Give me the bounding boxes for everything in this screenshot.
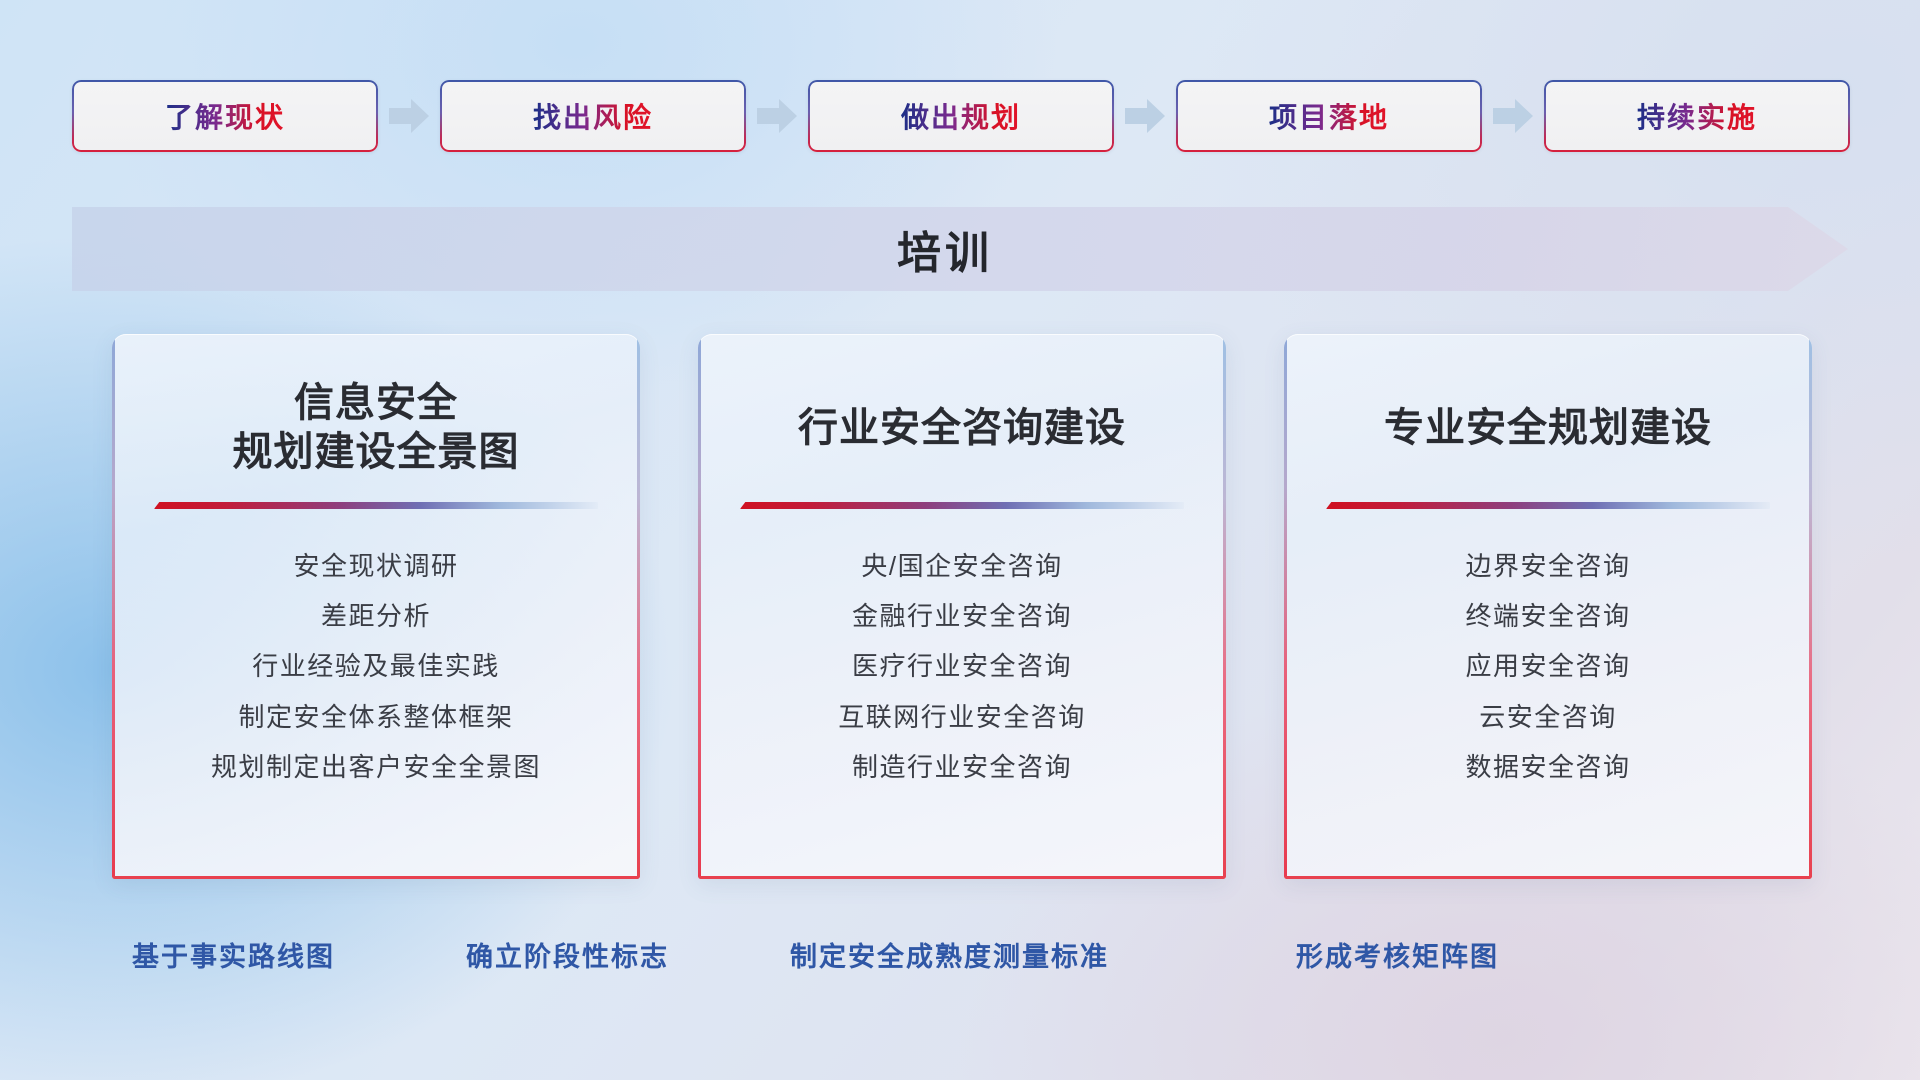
card-inner: 行业安全咨询建设央/国企安全咨询金融行业安全咨询医疗行业安全咨询互联网行业安全咨… xyxy=(698,334,1226,879)
list-item: 互联网行业安全咨询 xyxy=(838,702,1086,733)
card-inner: 信息安全规划建设全景图安全现状调研差距分析行业经验及最佳实践制定安全体系整体框架… xyxy=(112,334,640,879)
card-item-list: 央/国企安全咨询金融行业安全咨询医疗行业安全咨询互联网行业安全咨询制造行业安全咨… xyxy=(732,551,1192,783)
service-card-group: 信息安全规划建设全景图安全现状调研差距分析行业经验及最佳实践制定安全体系整体框架… xyxy=(112,334,1812,879)
list-item: 央/国企安全咨询 xyxy=(861,551,1062,582)
list-item: 制定安全体系整体框架 xyxy=(238,702,513,733)
list-item: 安全现状调研 xyxy=(293,551,458,582)
list-item: 数据安全咨询 xyxy=(1465,752,1630,783)
right-arrow-icon xyxy=(1482,80,1544,152)
footer-label-1: 基于事实路线图 xyxy=(132,935,335,974)
card-inner: 专业安全规划建设边界安全咨询终端安全咨询应用安全咨询云安全咨询数据安全咨询 xyxy=(1284,334,1812,879)
list-item: 行业经验及最佳实践 xyxy=(252,651,500,682)
list-item: 终端安全咨询 xyxy=(1465,601,1630,632)
list-item: 差距分析 xyxy=(321,601,431,632)
card-title: 行业安全咨询建设 xyxy=(732,376,1192,480)
list-item: 医疗行业安全咨询 xyxy=(852,651,1072,682)
step-label: 持续实施 xyxy=(1637,96,1757,136)
footer-label-2: 确立阶段性标志 xyxy=(466,935,669,974)
card-accent-rule xyxy=(154,502,598,509)
card-title-line: 专业安全规划建设 xyxy=(1318,404,1778,453)
step-label: 了解现状 xyxy=(165,96,285,136)
step-box-5[interactable]: 持续实施 xyxy=(1544,80,1850,152)
process-step-bar: 了解现状找出风险做出规划项目落地持续实施 xyxy=(72,80,1848,152)
service-card-1[interactable]: 信息安全规划建设全景图安全现状调研差距分析行业经验及最佳实践制定安全体系整体框架… xyxy=(112,334,640,879)
card-item-list: 边界安全咨询终端安全咨询应用安全咨询云安全咨询数据安全咨询 xyxy=(1318,551,1778,783)
footer-label-group: 基于事实路线图确立阶段性标志制定安全成熟度测量标准形成考核矩阵图 xyxy=(0,935,1920,983)
banner-title: 培训 xyxy=(72,207,1848,291)
card-title-line: 规划建设全景图 xyxy=(146,428,606,477)
right-arrow-icon xyxy=(1114,80,1176,152)
card-title-line: 信息安全 xyxy=(146,379,606,428)
step-label: 项目落地 xyxy=(1269,96,1389,136)
card-title-line: 行业安全咨询建设 xyxy=(732,404,1192,453)
step-label: 做出规划 xyxy=(901,96,1021,136)
step-box-1[interactable]: 了解现状 xyxy=(72,80,378,152)
footer-label-3: 制定安全成熟度测量标准 xyxy=(790,935,1109,974)
step-box-3[interactable]: 做出规划 xyxy=(808,80,1114,152)
card-accent-rule xyxy=(1326,502,1770,509)
list-item: 应用安全咨询 xyxy=(1465,651,1630,682)
card-title: 信息安全规划建设全景图 xyxy=(146,376,606,480)
list-item: 规划制定出客户安全全景图 xyxy=(211,752,541,783)
card-accent-rule xyxy=(740,502,1184,509)
right-arrow-icon xyxy=(746,80,808,152)
right-arrow-icon xyxy=(378,80,440,152)
step-box-2[interactable]: 找出风险 xyxy=(440,80,746,152)
list-item: 金融行业安全咨询 xyxy=(852,601,1072,632)
card-item-list: 安全现状调研差距分析行业经验及最佳实践制定安全体系整体框架规划制定出客户安全全景… xyxy=(146,551,606,783)
list-item: 云安全咨询 xyxy=(1479,702,1617,733)
list-item: 边界安全咨询 xyxy=(1465,551,1630,582)
step-label: 找出风险 xyxy=(533,96,653,136)
service-card-2[interactable]: 行业安全咨询建设央/国企安全咨询金融行业安全咨询医疗行业安全咨询互联网行业安全咨… xyxy=(698,334,1226,879)
list-item: 制造行业安全咨询 xyxy=(852,752,1072,783)
card-title: 专业安全规划建设 xyxy=(1318,376,1778,480)
service-card-3[interactable]: 专业安全规划建设边界安全咨询终端安全咨询应用安全咨询云安全咨询数据安全咨询 xyxy=(1284,334,1812,879)
step-box-4[interactable]: 项目落地 xyxy=(1176,80,1482,152)
footer-label-4: 形成考核矩阵图 xyxy=(1296,935,1499,974)
training-banner: 培训 xyxy=(72,207,1848,291)
